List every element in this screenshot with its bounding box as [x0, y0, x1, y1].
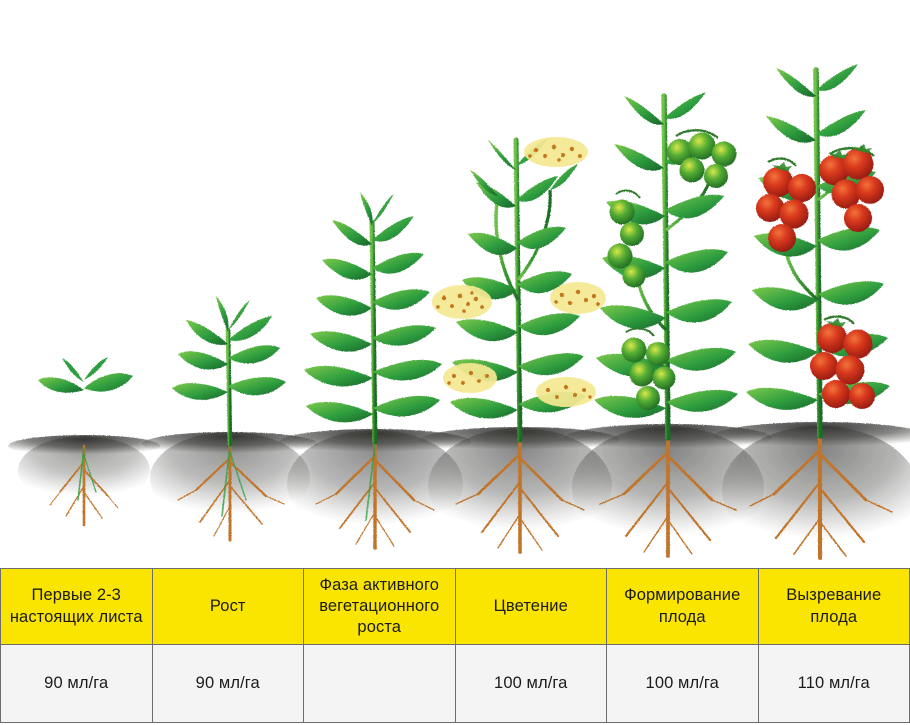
plant-6-ripening [714, 64, 910, 558]
plant-2-growth [142, 296, 318, 540]
illustration-band [0, 0, 910, 568]
stage-cell-2: Рост [152, 569, 304, 645]
dose-cell-4: 100 мл/га [455, 645, 607, 723]
dosage-row: 90 мл/га 90 мл/га 100 мл/га 100 мл/га 11… [1, 645, 910, 723]
plant-1-seedling [8, 357, 160, 525]
stage-cell-5: Формирование плода [607, 569, 759, 645]
dose-cell-5: 100 мл/га [607, 645, 759, 723]
dose-cell-3 [304, 645, 456, 723]
growth-stage-table: Первые 2-3 настоящих листа Рост Фаза акт… [0, 568, 910, 723]
dose-cell-1: 90 мл/га [1, 645, 153, 723]
stage-cell-6: Вызревание плода [758, 569, 910, 645]
dose-cell-6: 110 мл/га [758, 645, 910, 723]
stage-cell-1: Первые 2-3 настоящих листа [1, 569, 153, 645]
dose-cell-2: 90 мл/га [152, 645, 304, 723]
stage-header-row: Первые 2-3 настоящих листа Рост Фаза акт… [1, 569, 910, 645]
growth-stage-infographic: Первые 2-3 настоящих листа Рост Фаза акт… [0, 0, 910, 725]
stage-cell-4: Цветение [455, 569, 607, 645]
stage-cell-3: Фаза активного вегетационного роста [304, 569, 456, 645]
